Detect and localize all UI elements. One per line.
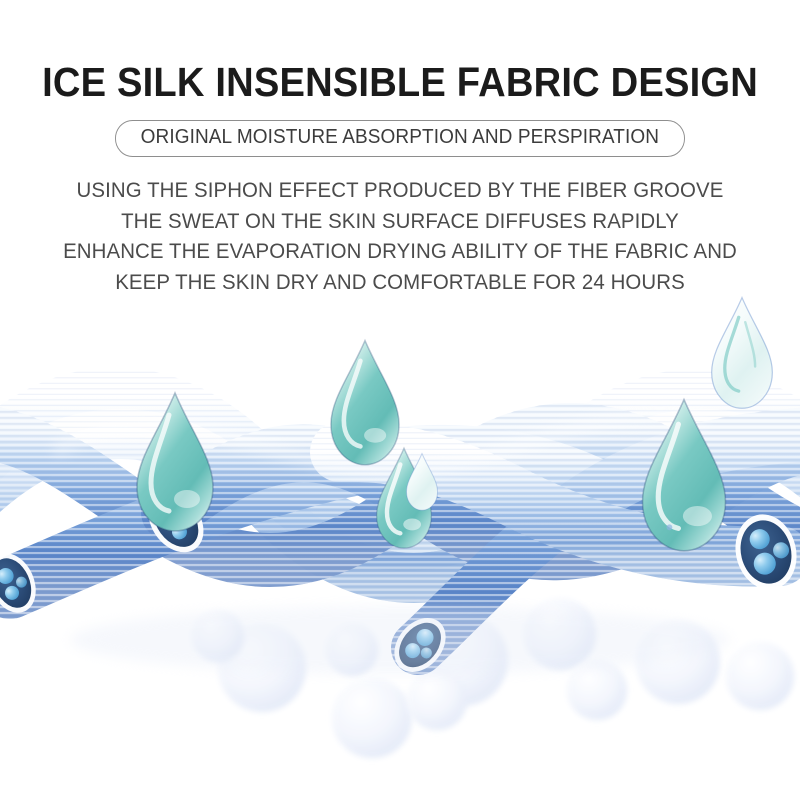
- page-title: ICE SILK INSENSIBLE FABRIC DESIGN: [28, 0, 772, 104]
- poster-canvas: ICE SILK INSENSIBLE FABRIC DESIGN ORIGIN…: [0, 0, 800, 800]
- body-line-3: ENHANCE THE EVAPORATION DRYING ABILITY O…: [20, 236, 780, 267]
- water-droplet: [331, 341, 399, 465]
- subtitle-badge: ORIGINAL MOISTURE ABSORPTION AND PERSPIR…: [115, 120, 685, 157]
- text-block: ICE SILK INSENSIBLE FABRIC DESIGN ORIGIN…: [0, 0, 800, 297]
- body-line-2: THE SWEAT ON THE SKIN SURFACE DIFFUSES R…: [20, 206, 780, 237]
- water-droplet: [712, 298, 773, 409]
- body-line-4: KEEP THE SKIN DRY AND COMFORTABLE FOR 24…: [20, 267, 780, 298]
- body-copy: USING THE SIPHON EFFECT PRODUCED BY THE …: [20, 175, 780, 297]
- badge-row: ORIGINAL MOISTURE ABSORPTION AND PERSPIR…: [0, 120, 800, 157]
- body-line-1: USING THE SIPHON EFFECT PRODUCED BY THE …: [20, 175, 780, 206]
